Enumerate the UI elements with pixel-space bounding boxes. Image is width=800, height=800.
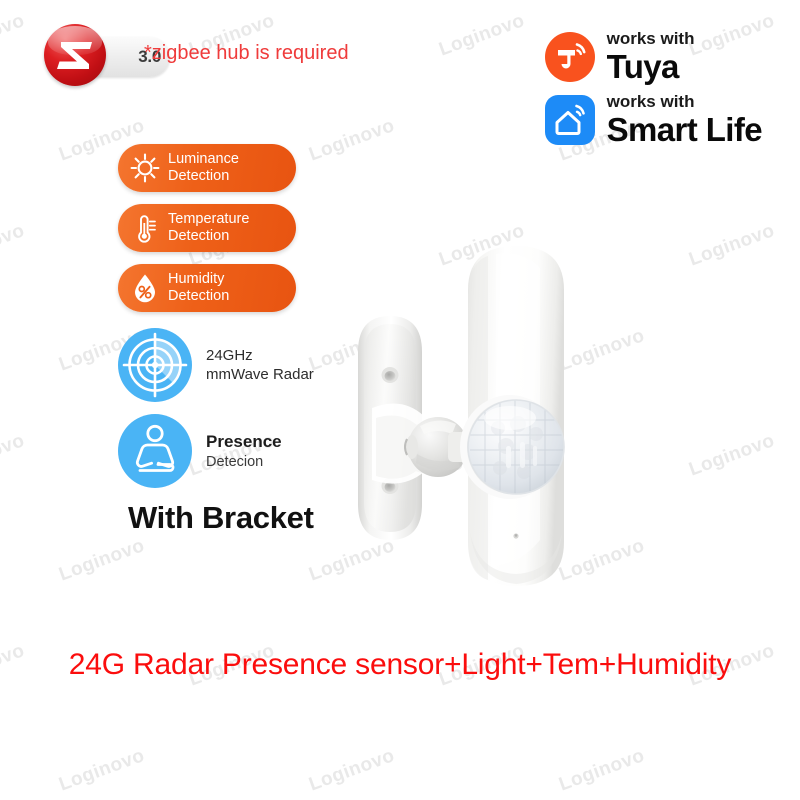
radar-line1: 24GHz: [206, 346, 314, 366]
pill-temperature-label: Temperature Detection: [168, 211, 249, 245]
smart-life-text-group: works with Smart Life: [607, 93, 762, 146]
pill-temperature-line2: Detection: [168, 228, 249, 245]
bottom-caption: 24G Radar Presence sensor+Light+Tem+Humi…: [0, 648, 800, 682]
pill-humidity-label: Humidity Detection: [168, 271, 229, 305]
humidity-drop-icon: [128, 271, 162, 305]
product-photo: [320, 240, 660, 600]
smart-life-prefix-label: works with: [607, 93, 762, 110]
works-with-smart-life-badge: works with Smart Life: [544, 93, 762, 146]
pill-luminance-detection: Luminance Detection: [118, 144, 296, 192]
watermark-text: Loginovo: [686, 220, 778, 271]
smart-life-name-label: Smart Life: [607, 113, 762, 146]
tuya-logo-icon: [544, 31, 596, 83]
watermark-text: Loginovo: [436, 10, 528, 61]
thermometer-icon: [128, 211, 162, 245]
pill-humidity-line1: Humidity: [168, 271, 224, 287]
zigbee-hub-required-caption: *zigbee hub is required: [144, 42, 349, 65]
watermark-text: Loginovo: [556, 745, 648, 796]
watermark-text: Loginovo: [0, 430, 28, 481]
feature-pill-list: Luminance Detection Temperature Detectio…: [118, 144, 296, 312]
presence-text-group: Presence Detecion: [206, 431, 282, 470]
works-with-badges: works with Tuya works with Smart Life: [544, 30, 762, 146]
pill-temperature-line1: Temperature: [168, 211, 249, 227]
pill-humidity-detection: Humidity Detection: [118, 264, 296, 312]
watermark-text: Loginovo: [0, 220, 28, 271]
works-with-tuya-badge: works with Tuya: [544, 30, 695, 83]
presence-line1: Presence: [206, 431, 282, 452]
feature-presence: Presence Detecion: [118, 414, 282, 488]
radar-text-group: 24GHz mmWave Radar: [206, 346, 314, 385]
pill-luminance-line2: Detection: [168, 168, 239, 185]
tuya-text-group: works with Tuya: [607, 30, 695, 83]
tuya-prefix-label: works with: [607, 30, 695, 47]
smart-life-logo-icon: [544, 94, 596, 146]
pill-temperature-detection: Temperature Detection: [118, 204, 296, 252]
watermark-text: Loginovo: [56, 745, 148, 796]
radar-scope-icon: [118, 328, 192, 402]
feature-radar: 24GHz mmWave Radar: [118, 328, 314, 402]
pill-luminance-line1: Luminance: [168, 151, 239, 167]
product-marketing-image: LoginovoLoginovoLoginovoLoginovoLoginovo…: [0, 0, 800, 800]
watermark-text: Loginovo: [306, 115, 398, 166]
zigbee-circle-icon: [44, 24, 106, 86]
watermark-text: Loginovo: [306, 745, 398, 796]
watermark-text: Loginovo: [56, 535, 148, 586]
with-bracket-label: With Bracket: [128, 500, 314, 536]
presence-person-icon: [118, 414, 192, 488]
watermark-text: Loginovo: [686, 430, 778, 481]
pill-luminance-label: Luminance Detection: [168, 151, 239, 185]
tuya-name-label: Tuya: [607, 50, 695, 83]
radar-line2: mmWave Radar: [206, 365, 314, 385]
led-indicator: [513, 533, 518, 538]
watermark-text: Loginovo: [0, 10, 28, 61]
pill-humidity-line2: Detection: [168, 288, 229, 305]
sun-icon: [128, 151, 162, 185]
presence-line2: Detecion: [206, 453, 282, 471]
zigbee-z-letter: [44, 24, 106, 86]
